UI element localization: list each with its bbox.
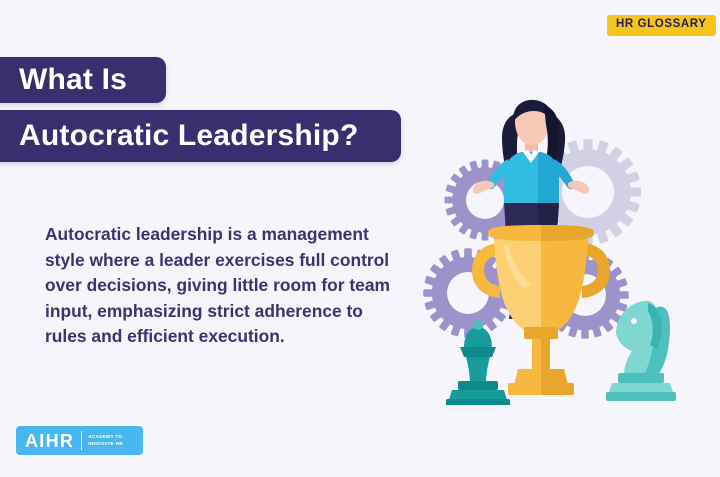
aihr-logo: AIHR ACADEMY TO INNOVATE HR xyxy=(16,426,143,455)
definition-paragraph: Autocratic leadership is a management st… xyxy=(45,222,390,350)
page-title-line-1-label: What Is xyxy=(19,63,127,97)
aihr-logo-wordmark: AIHR xyxy=(25,432,74,450)
logo-divider xyxy=(81,431,82,450)
aihr-logo-tagline: ACADEMY TO INNOVATE HR xyxy=(88,434,134,448)
aihr-logo-tagline-line-1: ACADEMY TO xyxy=(88,434,122,439)
infographic-canvas: HR GLOSSARY What Is Autocratic Leadershi… xyxy=(0,0,720,477)
page-title-line-2: Autocratic Leadership? xyxy=(0,110,401,162)
aihr-logo-tagline-line-2: INNOVATE HR xyxy=(88,441,123,446)
page-title-line-2-label: Autocratic Leadership? xyxy=(19,119,358,153)
page-title-line-1: What Is xyxy=(0,57,166,103)
leadership-illustration xyxy=(420,95,710,405)
status-badge: HR GLOSSARY xyxy=(607,15,716,36)
